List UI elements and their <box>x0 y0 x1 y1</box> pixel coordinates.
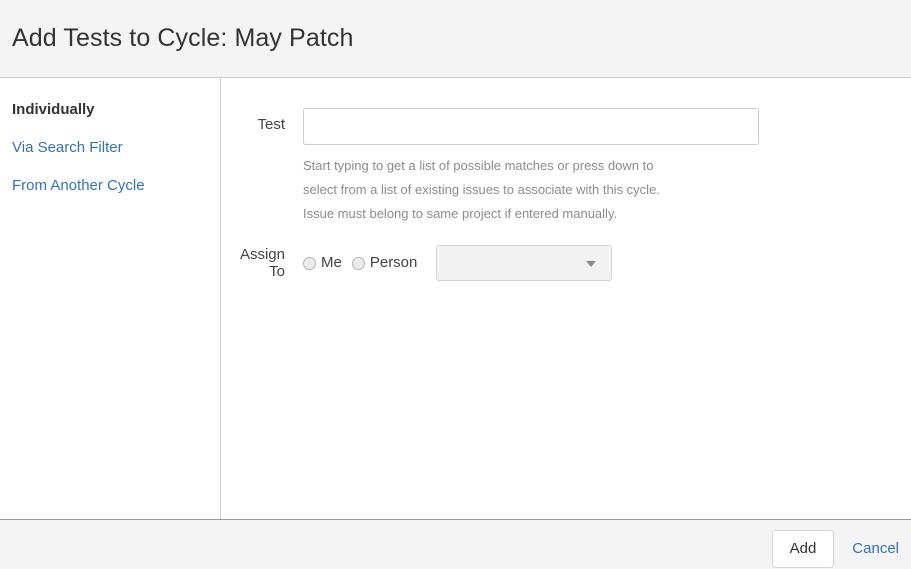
radio-unselected-icon[interactable] <box>352 257 365 270</box>
test-field-row: Test Start typing to get a list of possi… <box>221 108 911 226</box>
test-help-line-1: Start typing to get a list of possible m… <box>303 154 773 178</box>
page-title: Add Tests to Cycle: May Patch <box>0 25 353 53</box>
assign-to-person-label: Person <box>370 254 418 272</box>
test-label: Test <box>221 108 303 134</box>
sidebar-item-label: From Another Cycle <box>12 177 145 194</box>
dialog-header: Add Tests to Cycle: May Patch <box>0 0 911 78</box>
assign-to-label: Assign To <box>221 246 303 280</box>
dialog-body: Individually Via Search Filter From Anot… <box>0 78 911 520</box>
sidebar: Individually Via Search Filter From Anot… <box>0 78 221 519</box>
sidebar-item-via-search-filter[interactable]: Via Search Filter <box>0 138 220 158</box>
assign-to-radio-group: Me Person <box>303 254 427 272</box>
sidebar-item-label: Via Search Filter <box>12 139 123 156</box>
sidebar-item-individually[interactable]: Individually <box>0 100 220 120</box>
sidebar-item-from-another-cycle[interactable]: From Another Cycle <box>0 176 220 196</box>
assign-to-me-label: Me <box>321 254 342 272</box>
assign-to-me-option[interactable]: Me <box>303 254 342 272</box>
radio-unselected-icon[interactable] <box>303 257 316 270</box>
test-help-line-3: Issue must belong to same project if ent… <box>303 202 773 226</box>
add-tests-dialog: Add Tests to Cycle: May Patch Individual… <box>0 0 911 569</box>
cancel-button[interactable]: Cancel <box>852 540 899 557</box>
add-button[interactable]: Add <box>772 530 835 568</box>
test-input[interactable] <box>303 108 759 145</box>
test-field-wrapper: Start typing to get a list of possible m… <box>303 108 911 226</box>
dialog-footer: Add Cancel <box>0 520 911 569</box>
test-help-line-2: select from a list of existing issues to… <box>303 178 773 202</box>
assign-to-person-option[interactable]: Person <box>352 254 418 272</box>
sidebar-item-label: Individually <box>12 101 95 118</box>
test-help-text: Start typing to get a list of possible m… <box>303 154 773 226</box>
main-panel: Test Start typing to get a list of possi… <box>221 78 911 519</box>
chevron-down-icon <box>586 261 596 267</box>
person-select[interactable] <box>436 245 612 281</box>
assign-to-row: Assign To Me Person <box>221 245 911 281</box>
